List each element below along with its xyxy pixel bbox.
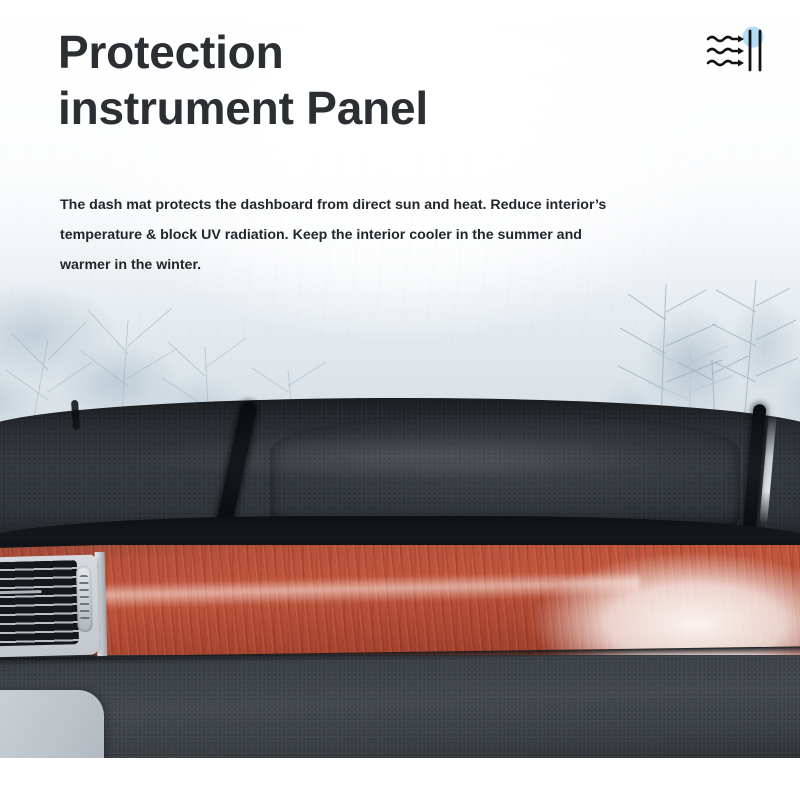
- bottom-white-band: [0, 758, 800, 780]
- air-vent: [0, 555, 99, 658]
- page-title: Protection instrument Panel: [58, 24, 658, 136]
- air-vent-slats: [0, 560, 79, 646]
- airflow-heat-block-icon: [704, 26, 772, 76]
- page-title-line-1: Protection: [58, 24, 658, 80]
- product-banner: Protection instrument Panel The dash mat…: [0, 0, 800, 800]
- air-vent-knob-ribs: [79, 575, 89, 623]
- page-description: The dash mat protects the dashboard from…: [60, 190, 616, 280]
- dash-mat-seam-far-left: [71, 400, 80, 430]
- airflow-wave-lines-icon: [708, 37, 739, 65]
- dash-mat-center-panel: [270, 412, 740, 530]
- page-title-line-2: instrument Panel: [58, 80, 658, 136]
